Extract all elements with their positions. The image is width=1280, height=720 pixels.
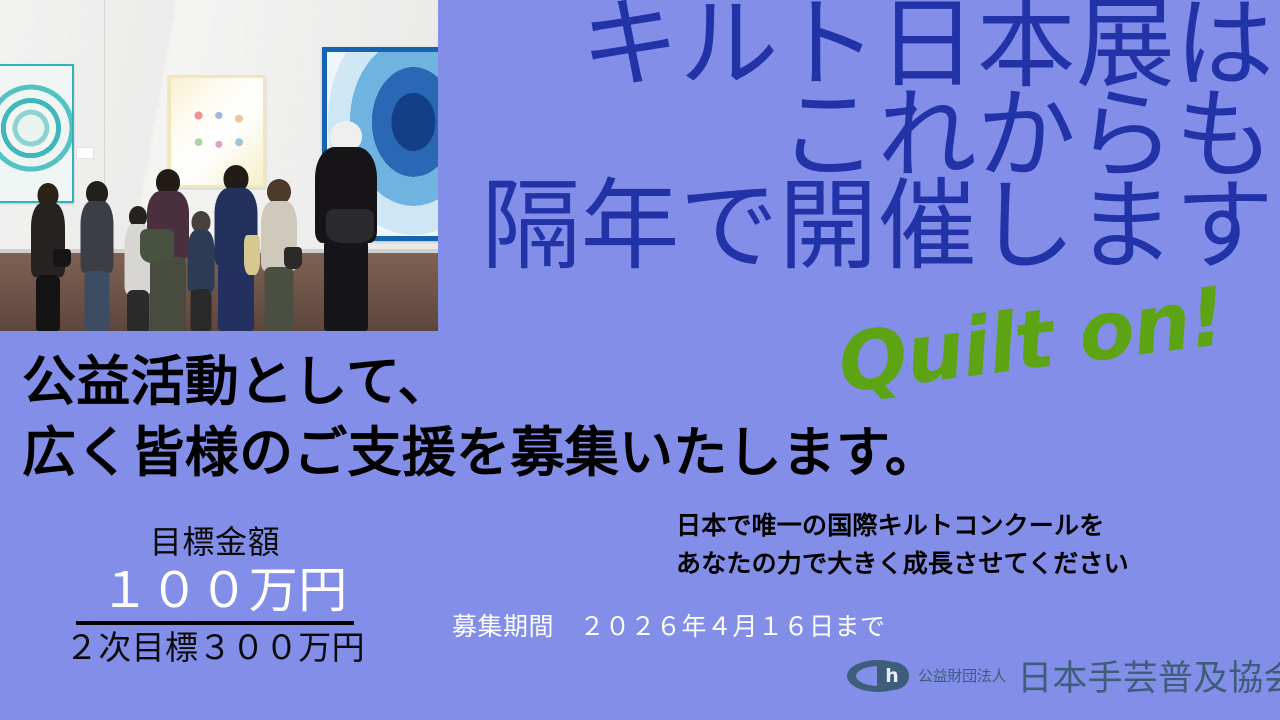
artwork-label-card xyxy=(76,147,94,159)
sub-message: 日本で唯一の国際キルトコンクールを あなたの力で大きく成長させてください xyxy=(676,507,1129,583)
exhibition-photo xyxy=(0,0,438,331)
visitor-legs xyxy=(265,267,294,331)
visitor-body xyxy=(81,201,114,273)
visitor-7 xyxy=(258,179,300,331)
visitor-legs xyxy=(85,271,110,331)
goal-label: 目標金額 xyxy=(30,525,400,560)
visitor-docent xyxy=(312,121,380,331)
docent-bag xyxy=(326,209,374,243)
logo-organization-name: 日本手芸普及協会 xyxy=(1017,650,1280,701)
docent-legs xyxy=(324,239,368,331)
headline: キルト日本展は これからも 隔年で開催します xyxy=(446,0,1274,275)
logo-corporate-type: 公益財団法人 xyxy=(918,665,1006,686)
organization-logo: h 公益財団法人 日本手芸普及協会 xyxy=(847,650,1280,701)
campaign-poster: キルト日本展は これからも 隔年で開催します Quilt on! 公益活動として… xyxy=(0,0,1280,720)
logo-letter-h: h xyxy=(883,664,901,688)
goal-second-target: ２次目標３００万円 xyxy=(30,629,400,667)
visitor-2 xyxy=(78,181,116,331)
goal-amount: １００万円 xyxy=(30,564,400,619)
visitor-bag xyxy=(284,247,302,269)
goal-divider xyxy=(76,621,354,625)
visitor-body xyxy=(188,230,215,292)
visitor-bag xyxy=(53,249,71,267)
sub-message-line-1: 日本で唯一の国際キルトコンクールを xyxy=(676,507,1129,545)
visitor-bag xyxy=(140,229,174,263)
visitor-legs xyxy=(150,257,186,331)
application-period: 募集期間 ２０２６年４月１６日まで xyxy=(452,607,886,643)
visitor-4 xyxy=(144,169,192,331)
visitor-1 xyxy=(28,183,68,331)
crescent-h-icon: h xyxy=(847,660,909,692)
sub-message-line-2: あなたの力で大きく成長させてください xyxy=(676,545,1129,583)
visitor-6 xyxy=(212,165,260,331)
visitor-legs xyxy=(191,289,212,331)
main-message-line-1: 公益活動として、 xyxy=(22,346,939,417)
main-message-line-2: 広く皆様のご支援を募集いたします。 xyxy=(22,417,939,488)
headline-line-3: 隔年で開催します xyxy=(446,178,1274,275)
visitor-legs xyxy=(36,275,60,331)
main-message: 公益活動として、 広く皆様のご支援を募集いたします。 xyxy=(22,346,939,489)
goal-block: 目標金額 １００万円 ２次目標３００万円 xyxy=(30,525,400,667)
